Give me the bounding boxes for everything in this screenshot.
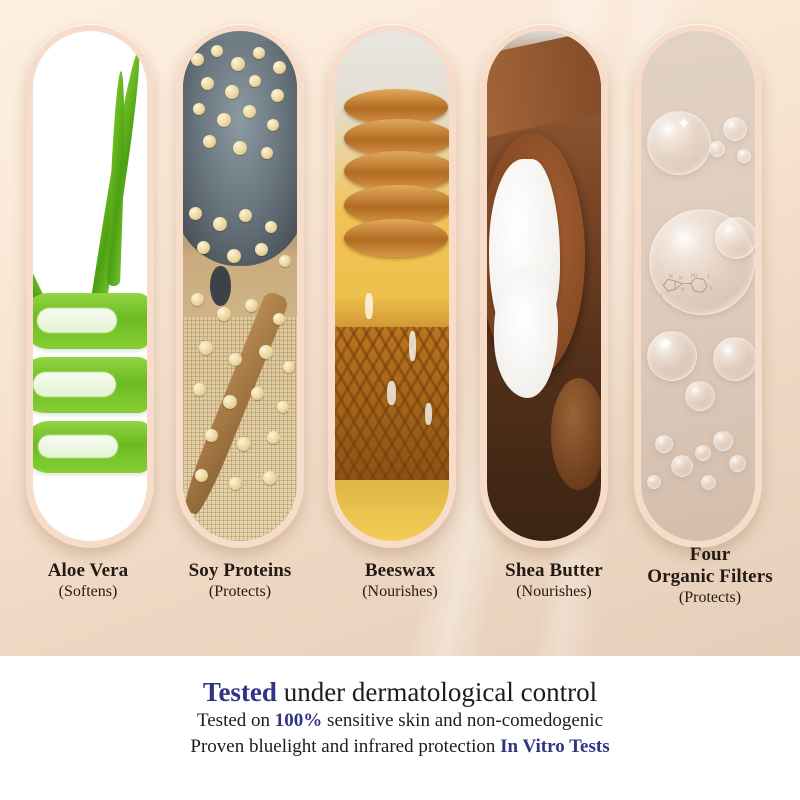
aloe-vera-image bbox=[33, 31, 147, 541]
molecule-label-n: N bbox=[678, 276, 682, 281]
claim-line2-accent: 100% bbox=[275, 710, 323, 731]
claim-headline: Tested under dermatological control bbox=[0, 676, 800, 708]
claim-line2-suffix: sensitive skin and non-comedogenic bbox=[322, 710, 603, 731]
ingredient-pill-shea-butter[interactable] bbox=[480, 24, 608, 548]
ingredient-pill-soy-proteins[interactable] bbox=[176, 24, 304, 548]
ingredient-benefit-beeswax: (Nourishes) bbox=[310, 582, 490, 602]
ingredient-pill-row: ✦ N N N HO T bbox=[0, 0, 800, 560]
ingredient-pill-organic-filters[interactable]: ✦ N N N HO T bbox=[634, 24, 762, 548]
beeswax-image bbox=[335, 31, 449, 541]
claim-line-3: Proven bluelight and infrared protection… bbox=[0, 734, 800, 760]
molecule-label-n3: N bbox=[669, 275, 673, 280]
molecule-label-t2: T bbox=[709, 287, 712, 292]
ingredient-label-row: Aloe Vera (Softens) Soy Proteins (Protec… bbox=[0, 560, 800, 656]
ingredient-name-beeswax: Beeswax bbox=[310, 560, 490, 582]
ingredient-label-organic-filters: Four Organic Filters (Protects) bbox=[620, 544, 800, 608]
claims-section: Tested under dermatological control Test… bbox=[0, 656, 800, 800]
claim-line2-prefix: Tested on bbox=[197, 710, 275, 731]
claim-line3-prefix: Proven bluelight and infrared protection bbox=[190, 736, 500, 757]
molecule-label-t1: T bbox=[707, 275, 710, 280]
molecule-label-t3: T bbox=[659, 294, 662, 299]
ingredient-label-shea-butter: Shea Butter (Nourishes) bbox=[464, 560, 644, 602]
ingredient-name-organic-filters-line2: Organic Filters bbox=[620, 566, 800, 588]
ingredient-name-soy-proteins: Soy Proteins bbox=[150, 560, 330, 582]
molecule-label-n2: N bbox=[681, 288, 685, 293]
ingredient-name-organic-filters-line1: Four bbox=[620, 544, 800, 566]
sparkle-icon-2: ✦ bbox=[659, 337, 672, 353]
ingredient-label-soy-proteins: Soy Proteins (Protects) bbox=[150, 560, 330, 602]
claim-headline-accent: Tested bbox=[203, 677, 277, 707]
ingredient-benefit-shea-butter: (Nourishes) bbox=[464, 582, 644, 602]
claim-line3-accent: In Vitro Tests bbox=[500, 736, 609, 757]
ingredient-benefits-infographic: ✦ N N N HO T bbox=[0, 0, 800, 800]
sparkle-icon: ✦ bbox=[677, 117, 690, 133]
shea-butter-image bbox=[487, 31, 601, 541]
claim-headline-rest: under dermatological control bbox=[277, 677, 597, 707]
ingredient-pill-beeswax[interactable] bbox=[328, 24, 456, 548]
organic-filters-image: ✦ N N N HO T bbox=[641, 31, 755, 541]
ingredient-pill-aloe-vera[interactable] bbox=[26, 24, 154, 548]
ingredient-benefit-soy-proteins: (Protects) bbox=[150, 582, 330, 602]
soy-proteins-image bbox=[183, 31, 297, 541]
ingredient-name-shea-butter: Shea Butter bbox=[464, 560, 644, 582]
molecule-label-ho: HO bbox=[690, 274, 697, 279]
ingredient-label-beeswax: Beeswax (Nourishes) bbox=[310, 560, 490, 602]
claim-line-2: Tested on 100% sensitive skin and non-co… bbox=[0, 708, 800, 734]
ingredient-benefit-organic-filters: (Protects) bbox=[620, 588, 800, 608]
